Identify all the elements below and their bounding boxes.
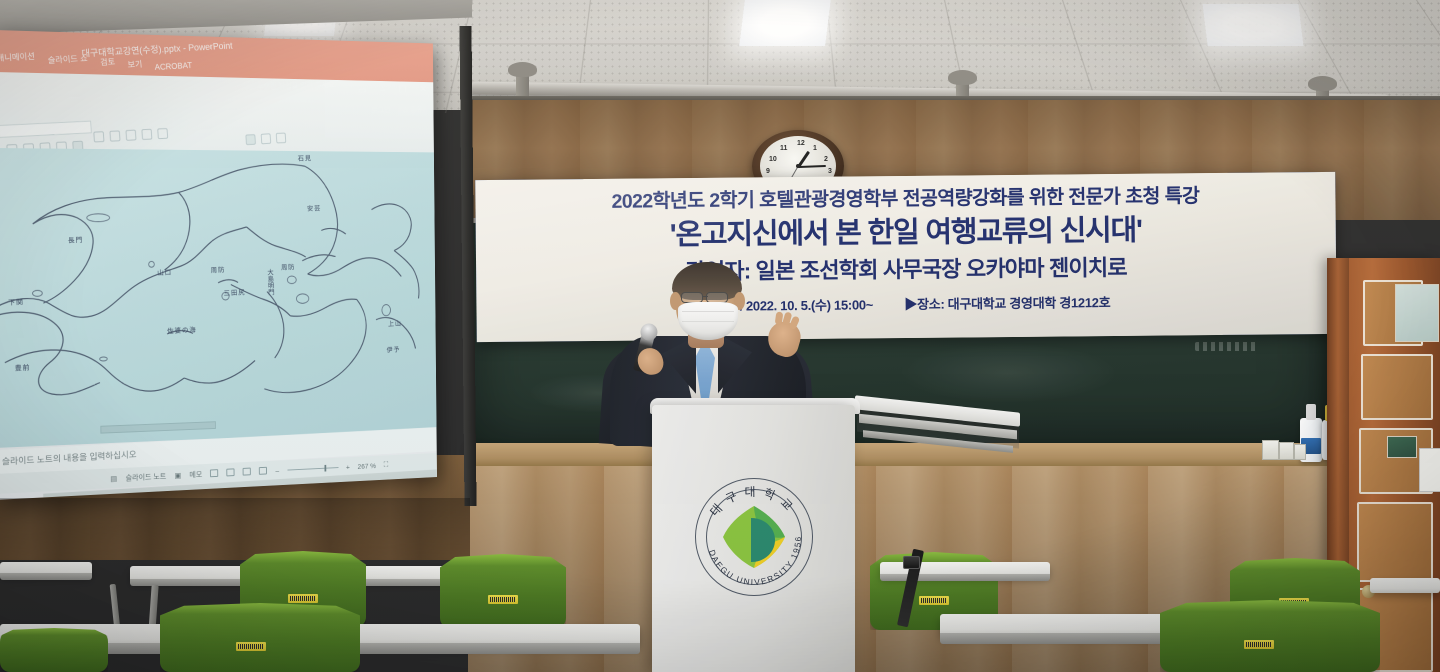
bag-buckle [903, 556, 920, 569]
chalkboard-writing [1195, 342, 1259, 351]
table-edge [0, 573, 92, 580]
chair[interactable] [440, 554, 566, 628]
map-label: 佐婆の海 [167, 325, 197, 336]
table [1370, 578, 1440, 593]
small-box [1294, 444, 1306, 460]
chair-backrest [0, 628, 108, 672]
arrange-icon[interactable] [261, 133, 272, 144]
small-box [1279, 442, 1294, 460]
slideshow-icon[interactable] [259, 467, 267, 475]
paragraph-icons [93, 128, 168, 143]
chair-asset-tag [236, 642, 266, 651]
status-comments-label[interactable]: 메모 [189, 468, 202, 479]
map-label: 山口 [157, 268, 172, 278]
chair-backrest [1160, 600, 1380, 672]
projection-screen: 대구대학교강연(수정).pptx - PowerPoint 애니메이션 슬라이드… [0, 30, 437, 500]
banner-title: '온고지신에서 본 한일 여행교류의 신시대' [476, 205, 1336, 255]
ceiling-light-panel [739, 0, 831, 46]
comments-icon[interactable]: ▣ [175, 470, 182, 479]
clock-center-pin [796, 164, 800, 168]
lecture-hall-photo: 12 1 2 3 4 5 6 7 8 9 10 11 2022학년도 2학기 호… [0, 0, 1440, 672]
align-left-icon[interactable] [125, 130, 136, 141]
map-label: 伊予 [386, 345, 400, 355]
chair[interactable] [160, 603, 360, 672]
map-label: 豊前 [15, 363, 31, 374]
chair-asset-tag [919, 596, 949, 605]
powerpoint-ribbon: 글꼴 단락 도형 정렬 빠른 스타일 그리기 찾기 바꾸기 선택 [0, 72, 434, 152]
slide-sorter-icon[interactable] [227, 468, 235, 476]
clock-number: 2 [824, 156, 828, 163]
eyeglasses-bridge [703, 296, 708, 297]
banner-venue: ▶장소: 대구대학교 경영대학 경1212호 [904, 295, 1110, 312]
small-box [1262, 440, 1279, 460]
map-label: 長門 [68, 235, 84, 245]
ceiling-light-panel [1202, 4, 1303, 46]
chair-asset-tag [488, 595, 518, 604]
door-nameplate [1387, 436, 1417, 458]
clock-number: 11 [780, 145, 787, 152]
drawing-icons [245, 133, 286, 146]
door-window [1395, 284, 1439, 342]
align-right-icon[interactable] [157, 128, 168, 139]
chair[interactable] [0, 628, 108, 672]
ribbon-tab-acrobat[interactable]: ACROBAT [154, 60, 192, 72]
status-notes-label[interactable]: 슬라이드 노트 [126, 470, 167, 483]
daegu-university-emblem: 대구대학교 DAEGU UNIVERSITY 1956 [695, 478, 813, 596]
screen-shadow [0, 498, 470, 558]
door-panel [1361, 354, 1433, 420]
map-label: 三田尻 [223, 288, 245, 299]
reading-view-icon[interactable] [243, 468, 251, 476]
clock-minute-hand [798, 165, 826, 168]
clock-number: 10 [769, 156, 777, 163]
ribbon-tab-review[interactable]: 검토 [100, 56, 116, 75]
map-label: 下関 [8, 297, 24, 308]
clock-number: 3 [828, 168, 832, 175]
door-panel [1357, 502, 1433, 582]
normal-view-icon[interactable] [210, 469, 218, 477]
chair[interactable] [1160, 600, 1380, 672]
chair-asset-tag [288, 594, 318, 603]
door-notice [1419, 448, 1440, 492]
zoom-in-icon[interactable]: + [346, 462, 350, 471]
numbering-icon[interactable] [109, 130, 120, 141]
emblem-mark [721, 504, 787, 570]
shapes-icon[interactable] [245, 134, 256, 145]
roller-mount [516, 72, 529, 98]
ribbon-tab-view[interactable]: 보기 [127, 58, 143, 73]
chair-asset-tag [1244, 640, 1274, 649]
zoom-level-label: 267 % [358, 461, 376, 470]
fit-to-window-icon[interactable]: ⛶ [384, 460, 389, 470]
powerpoint-slide[interactable]: 石見 安芸 長門 山口 周防 下関 佐婆の海 豊前 大島明門 周防 伊予 上山 … [0, 148, 437, 448]
map-label: 周防 [210, 265, 225, 275]
sanitizer-pump[interactable] [1306, 404, 1316, 420]
clock-number: 1 [813, 145, 817, 152]
clock-number: 12 [797, 140, 805, 147]
zoom-out-icon[interactable]: – [275, 466, 279, 475]
map-label: 安芸 [307, 204, 321, 214]
map-label: 上山 [388, 319, 402, 329]
zoom-slider[interactable] [287, 467, 338, 470]
quick-styles-icon[interactable] [276, 133, 286, 144]
finger [775, 311, 784, 325]
historical-map-drawing [0, 148, 437, 448]
chair-backrest [440, 554, 566, 628]
chair-backrest [160, 603, 360, 672]
align-center-icon[interactable] [141, 129, 152, 140]
clock-number: 9 [766, 168, 770, 175]
font-name-box[interactable] [0, 121, 92, 138]
notes-toggle-icon[interactable]: ▤ [110, 474, 117, 483]
bullets-icon[interactable] [93, 131, 104, 142]
map-label: 周防 [281, 262, 296, 272]
map-label: 石見 [298, 154, 313, 164]
face-mask [678, 302, 738, 340]
